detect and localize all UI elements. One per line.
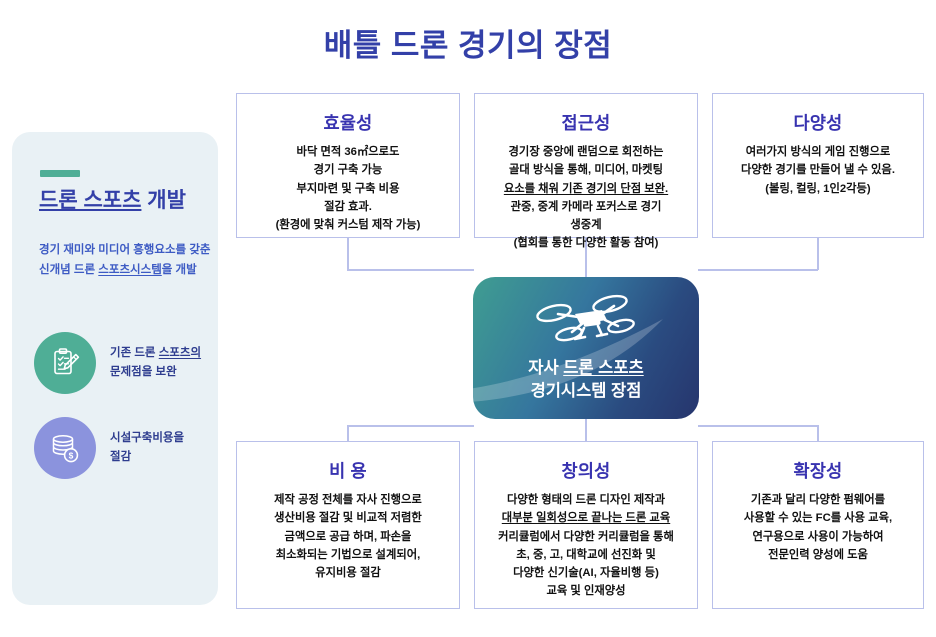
card-creativity[interactable]: 창의성 다양한 형태의 드론 디자인 제작과 대부분 일회성으로 끝나는 드론 …	[474, 441, 698, 609]
card-body-diversity: 여러가지 방식의 게임 진행으로 다양한 경기를 만들어 낼 수 있음. (볼링…	[713, 143, 923, 198]
sidebar-desc-line2-a: 신개념 드론	[39, 264, 98, 276]
acc-line-5: (협회를 통한 다양한 활동 참여)	[514, 237, 659, 249]
feature1-line1-b: 스포츠의	[159, 347, 201, 359]
sidebar-desc-line2-b: 스포츠시스템	[98, 264, 161, 276]
sidebar-desc-line1: 경기 재미와 미디어 흥행요소를 갖춘	[39, 244, 210, 256]
clipboard-pencil-icon	[48, 346, 82, 380]
drone-icon	[528, 287, 644, 353]
card-title-cost: 비 용	[237, 458, 459, 483]
svg-text:$: $	[69, 451, 74, 461]
card-body-cost: 제작 공정 전체를 자사 진행으로 생산비용 절감 및 비교적 저렴한 금액으로…	[237, 491, 459, 582]
card-cost[interactable]: 비 용 제작 공정 전체를 자사 진행으로 생산비용 절감 및 비교적 저렴한 …	[236, 441, 460, 609]
acc-line-4: 생중계	[570, 219, 601, 231]
scal-line-3: 전문인력 양성에 도움	[768, 549, 868, 561]
card-body-creativity: 다양한 형태의 드론 디자인 제작과 대부분 일회성으로 끝나는 드론 교육 커…	[475, 491, 697, 601]
card-efficiency[interactable]: 효율성 바닥 면적 36㎡으로도 경기 구축 가능 부지마련 및 구축 비용 절…	[236, 93, 460, 238]
connector-bottom-left-vertical	[347, 425, 349, 442]
center-hub[interactable]: 자사 드론 스포츠 경기시스템 장점	[473, 277, 699, 419]
crea-line-5: 교육 및 인재양성	[546, 585, 625, 597]
feature-icon-circle-green	[34, 332, 96, 394]
feature2-line2: 절감	[110, 451, 131, 463]
hub-label: 자사 드론 스포츠 경기시스템 장점	[473, 357, 699, 403]
sidebar-panel: 드론 스포츠 개발 경기 재미와 미디어 흥행요소를 갖춘 신개념 드론 스포츠…	[12, 132, 218, 605]
card-title-efficiency: 효율성	[237, 110, 459, 135]
eff-line-4: (환경에 맞춰 커스텀 제작 가능)	[276, 219, 421, 231]
hub-line1-a: 자사	[528, 359, 563, 377]
card-scalability[interactable]: 확장성 기존과 달리 다양한 펌웨어를 사용할 수 있는 FC를 사용 교육, …	[712, 441, 924, 609]
sidebar-heading-part1: 드론 스포츠	[39, 189, 141, 212]
scal-line-0: 기존과 달리 다양한 펌웨어를	[751, 494, 885, 506]
sidebar-heading-part2: 개발	[141, 189, 185, 212]
crea-line-4: 다양한 신기술(AI, 자율비행 등)	[513, 567, 659, 579]
sidebar-feature-cost-saving: $ 시설구축비용을 절감	[34, 417, 220, 479]
connector-bottom-mid-vertical	[585, 419, 587, 442]
connector-bottom-right-vertical	[817, 425, 819, 442]
sidebar-description: 경기 재미와 미디어 흥행요소를 갖춘 신개념 드론 스포츠시스템을 개발	[39, 240, 211, 280]
card-title-diversity: 다양성	[713, 110, 923, 135]
hub-line2: 경기시스템 장점	[531, 382, 642, 400]
feature1-line1-a: 기존 드론	[110, 347, 159, 359]
crea-line-2: 커리큘럼에서 다양한 커리큘럼을 통해	[498, 531, 674, 543]
sidebar-heading: 드론 스포츠 개발	[39, 184, 186, 214]
feature-label-cost-saving: 시설구축비용을 절감	[110, 429, 222, 467]
hub-line1-b: 드론 스포츠	[563, 359, 643, 377]
feature2-line1: 시설구축비용을	[110, 432, 184, 444]
card-title-accessibility: 접근성	[475, 110, 697, 135]
eff-line-3: 절감 효과.	[324, 201, 372, 213]
connector-bottom-left-horizontal	[347, 425, 474, 427]
feature1-line2: 문제점을 보완	[110, 366, 177, 378]
coins-dollar-icon: $	[48, 431, 82, 465]
card-body-scalability: 기존과 달리 다양한 펌웨어를 사용할 수 있는 FC를 사용 교육, 연구용으…	[713, 491, 923, 564]
acc-line-0: 경기장 중앙에 랜덤으로 회전하는	[509, 146, 664, 158]
card-diversity[interactable]: 다양성 여러가지 방식의 게임 진행으로 다양한 경기를 만들어 낼 수 있음.…	[712, 93, 924, 238]
connector-top-left-horizontal	[347, 269, 474, 271]
card-title-scalability: 확장성	[713, 458, 923, 483]
acc-line-1: 골대 방식을 통해, 미디어, 마켓팅	[509, 164, 663, 176]
scal-line-2: 연구용으로 사용이 가능하여	[753, 531, 884, 543]
eff-line-0: 바닥 면적 36㎡으로도	[297, 146, 400, 158]
acc-line-2: 요소를 채워 기존 경기의 단점 보완.	[504, 183, 668, 195]
crea-line-1: 대부분 일회성으로 끝나는 드론 교육	[502, 512, 670, 524]
card-body-efficiency: 바닥 면적 36㎡으로도 경기 구축 가능 부지마련 및 구축 비용 절감 효과…	[237, 143, 459, 234]
acc-line-3: 관중, 중계 카메라 포커스로 경기	[511, 201, 662, 213]
infographic-root: 배틀 드론 경기의 장점 드론 스포츠 개발 경기 재미와 미디어 흥행요소를 …	[0, 0, 936, 637]
crea-line-0: 다양한 형태의 드론 디자인 제작과	[507, 494, 665, 506]
card-accessibility[interactable]: 접근성 경기장 중앙에 랜덤으로 회전하는 골대 방식을 통해, 미디어, 마켓…	[474, 93, 698, 238]
sidebar-feature-problem-solving: 기존 드론 스포츠의 문제점을 보완	[34, 332, 220, 394]
accent-bar	[40, 170, 80, 177]
cost-line-0: 제작 공정 전체를 자사 진행으로	[274, 494, 422, 506]
connector-top-right-vertical	[817, 238, 819, 270]
scal-line-1: 사용할 수 있는 FC를 사용 교육,	[744, 512, 892, 524]
card-body-accessibility: 경기장 중앙에 랜덤으로 회전하는 골대 방식을 통해, 미디어, 마켓팅 요소…	[475, 143, 697, 253]
cost-line-4: 유지비용 절감	[315, 567, 381, 579]
connector-top-right-horizontal	[698, 269, 818, 271]
sidebar-desc-line2-c: 을 개발	[162, 264, 197, 276]
div-line-0: 여러가지 방식의 게임 진행으로	[746, 146, 891, 158]
connector-bottom-right-horizontal	[698, 425, 818, 427]
crea-line-3: 초, 중, 고, 대학교에 선진화 및	[516, 549, 655, 561]
cost-line-3: 최소화되는 기법으로 설계되어,	[276, 549, 421, 561]
cost-line-2: 금액으로 공급 하며, 파손을	[285, 531, 412, 543]
card-title-creativity: 창의성	[475, 458, 697, 483]
connector-top-left-vertical	[347, 238, 349, 270]
cost-line-1: 생산비용 절감 및 비교적 저렴한	[274, 512, 422, 524]
div-line-2: (볼링, 컬링, 1인2각등)	[765, 183, 870, 195]
eff-line-1: 경기 구축 가능	[314, 164, 383, 176]
feature-icon-circle-purple: $	[34, 417, 96, 479]
feature-label-problem-solving: 기존 드론 스포츠의 문제점을 보완	[110, 344, 222, 382]
div-line-1: 다양한 경기를 만들어 낼 수 있음.	[741, 164, 895, 176]
eff-line-2: 부지마련 및 구축 비용	[297, 183, 400, 195]
page-title: 배틀 드론 경기의 장점	[0, 20, 936, 65]
